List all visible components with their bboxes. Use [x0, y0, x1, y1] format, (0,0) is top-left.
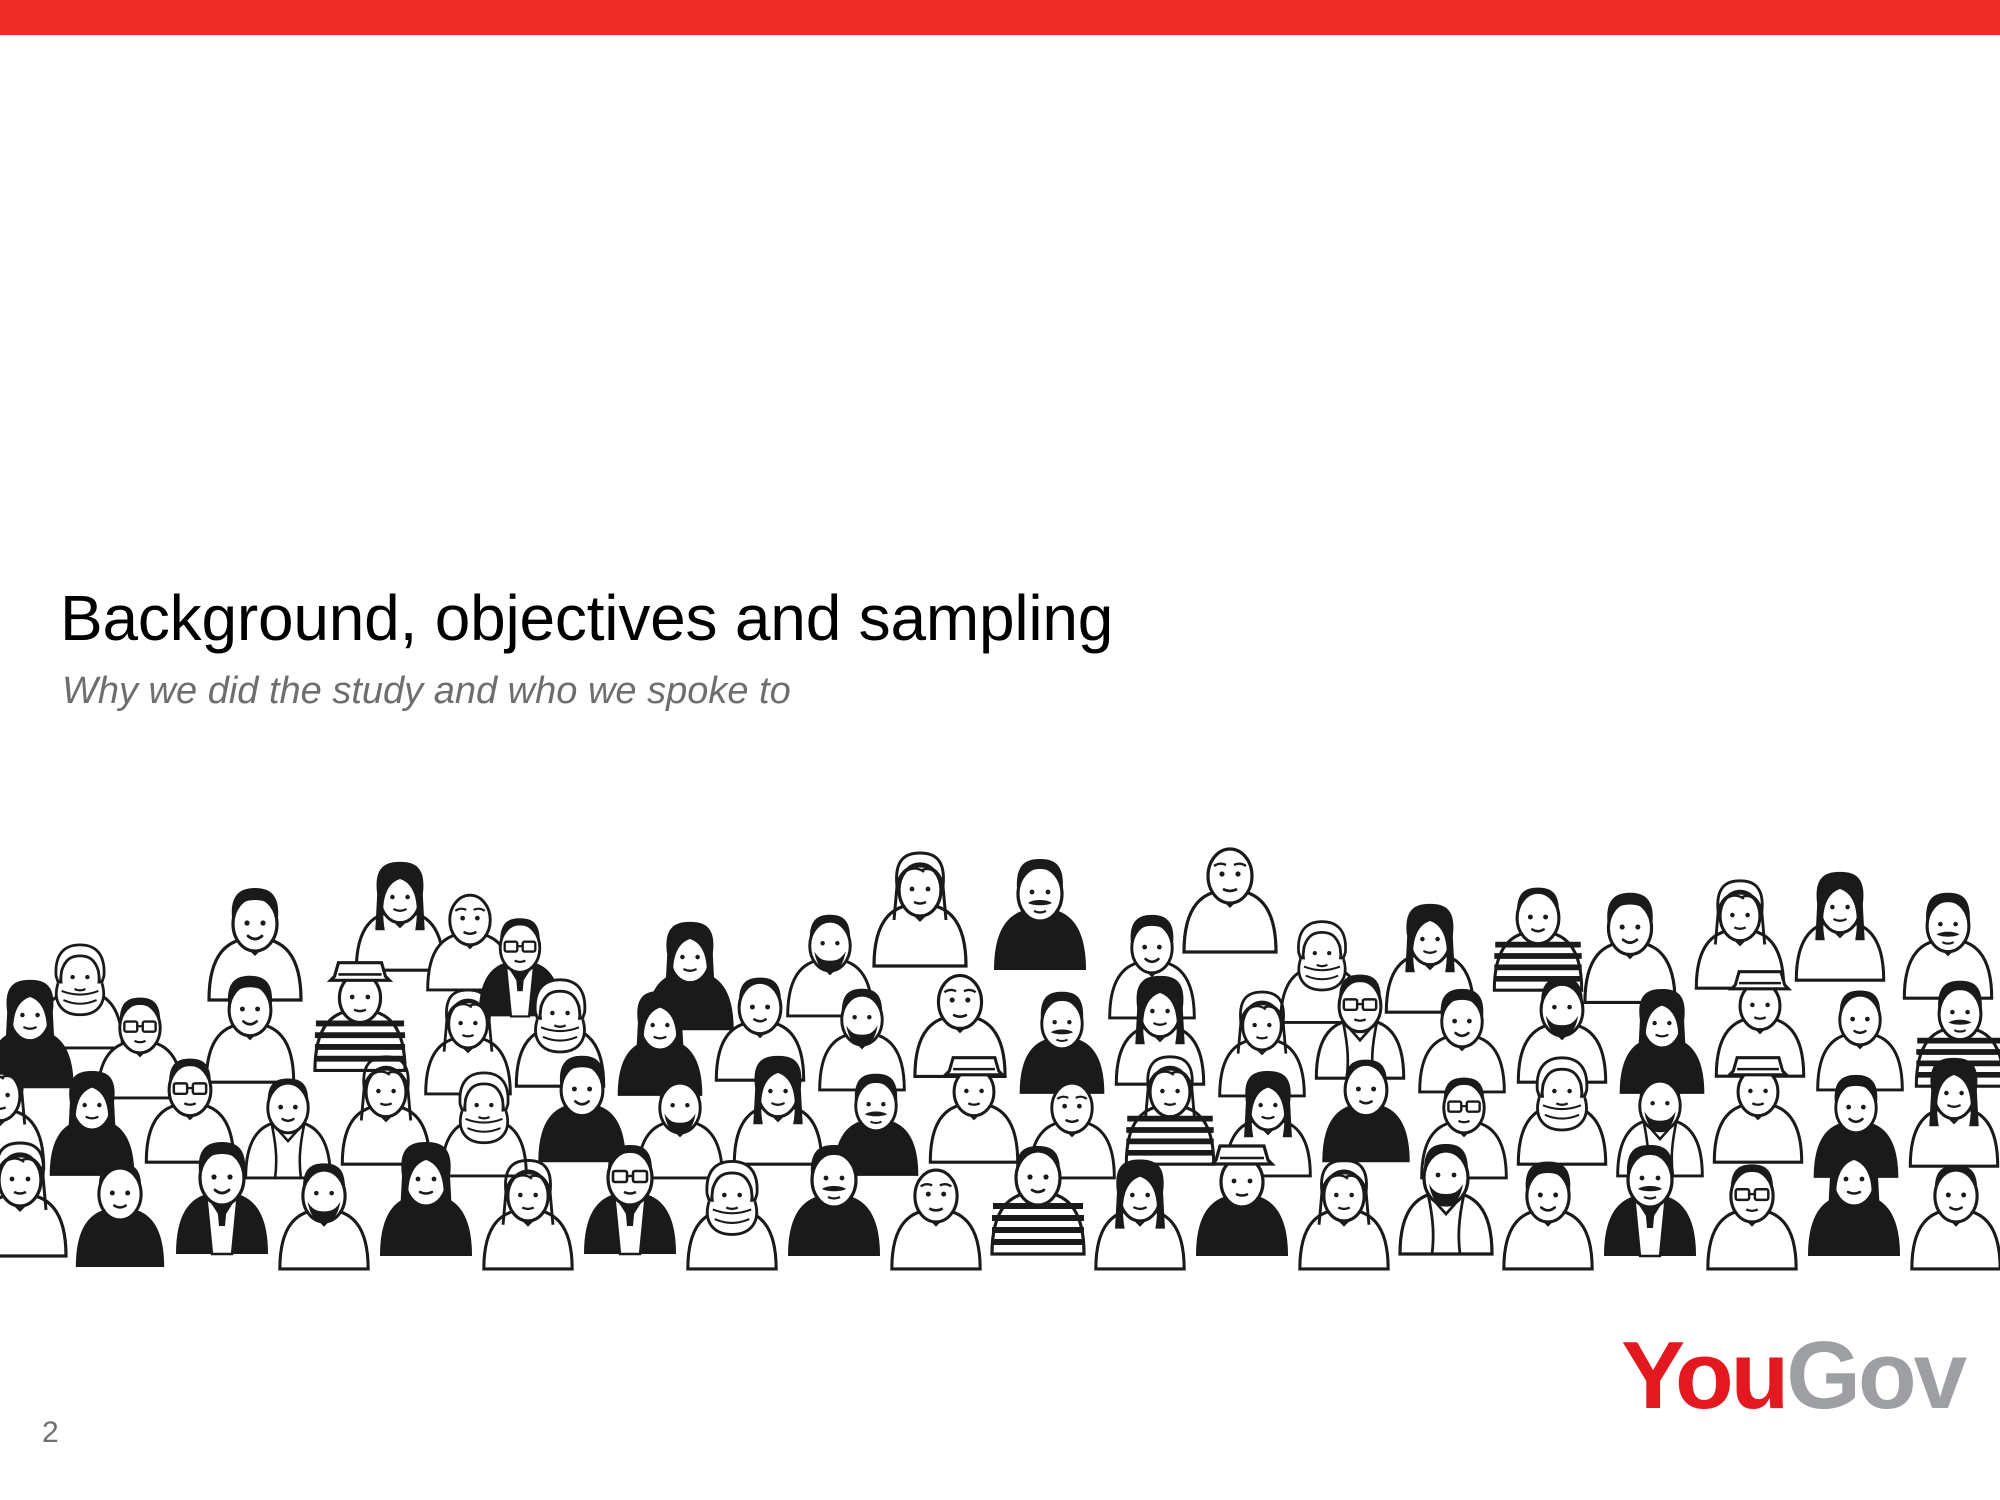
- crowd-illustration: [0, 828, 2000, 1290]
- title-block: Background, objectives and sampling Why …: [60, 585, 1860, 713]
- page-title: Background, objectives and sampling: [60, 585, 1860, 653]
- yougov-logo: YouGov: [1621, 1328, 1964, 1424]
- page-subtitle: Why we did the study and who we spoke to: [62, 671, 1860, 713]
- crowd-illustration-graphic: [0, 828, 2000, 1290]
- page-number: 2: [42, 1418, 59, 1448]
- logo-gov-text: Gov: [1786, 1322, 1964, 1429]
- slide-canvas: Background, objectives and sampling Why …: [0, 0, 2000, 1500]
- logo-you-text: You: [1621, 1322, 1786, 1429]
- top-accent-bar: [0, 0, 2000, 35]
